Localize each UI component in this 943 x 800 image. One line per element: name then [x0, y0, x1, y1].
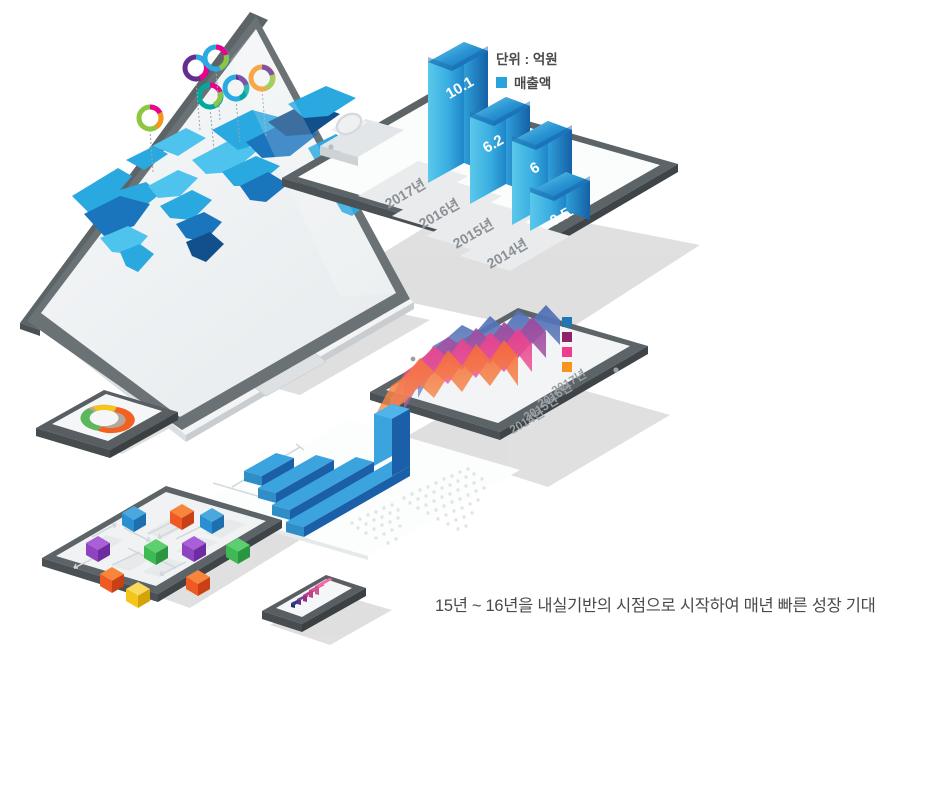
- laptop-screen: [27, 16, 410, 430]
- legend-series-label: 매출액: [514, 72, 551, 92]
- laptop-device: [20, 9, 414, 442]
- chart-unit-label: 단위 : 억원: [496, 48, 558, 68]
- isometric-illustration: [0, 0, 943, 800]
- chart-legend: 매출액: [496, 72, 551, 92]
- infographic-stage: 10.1 6.2 6 0.5 2017년 2016년 2015년 2014년 2…: [0, 0, 943, 800]
- legend-swatch-icon: [496, 77, 507, 88]
- summary-caption: 15년 ~ 16년을 내실기반의 시점으로 시작하여 매년 빠른 성장 기대: [435, 592, 935, 616]
